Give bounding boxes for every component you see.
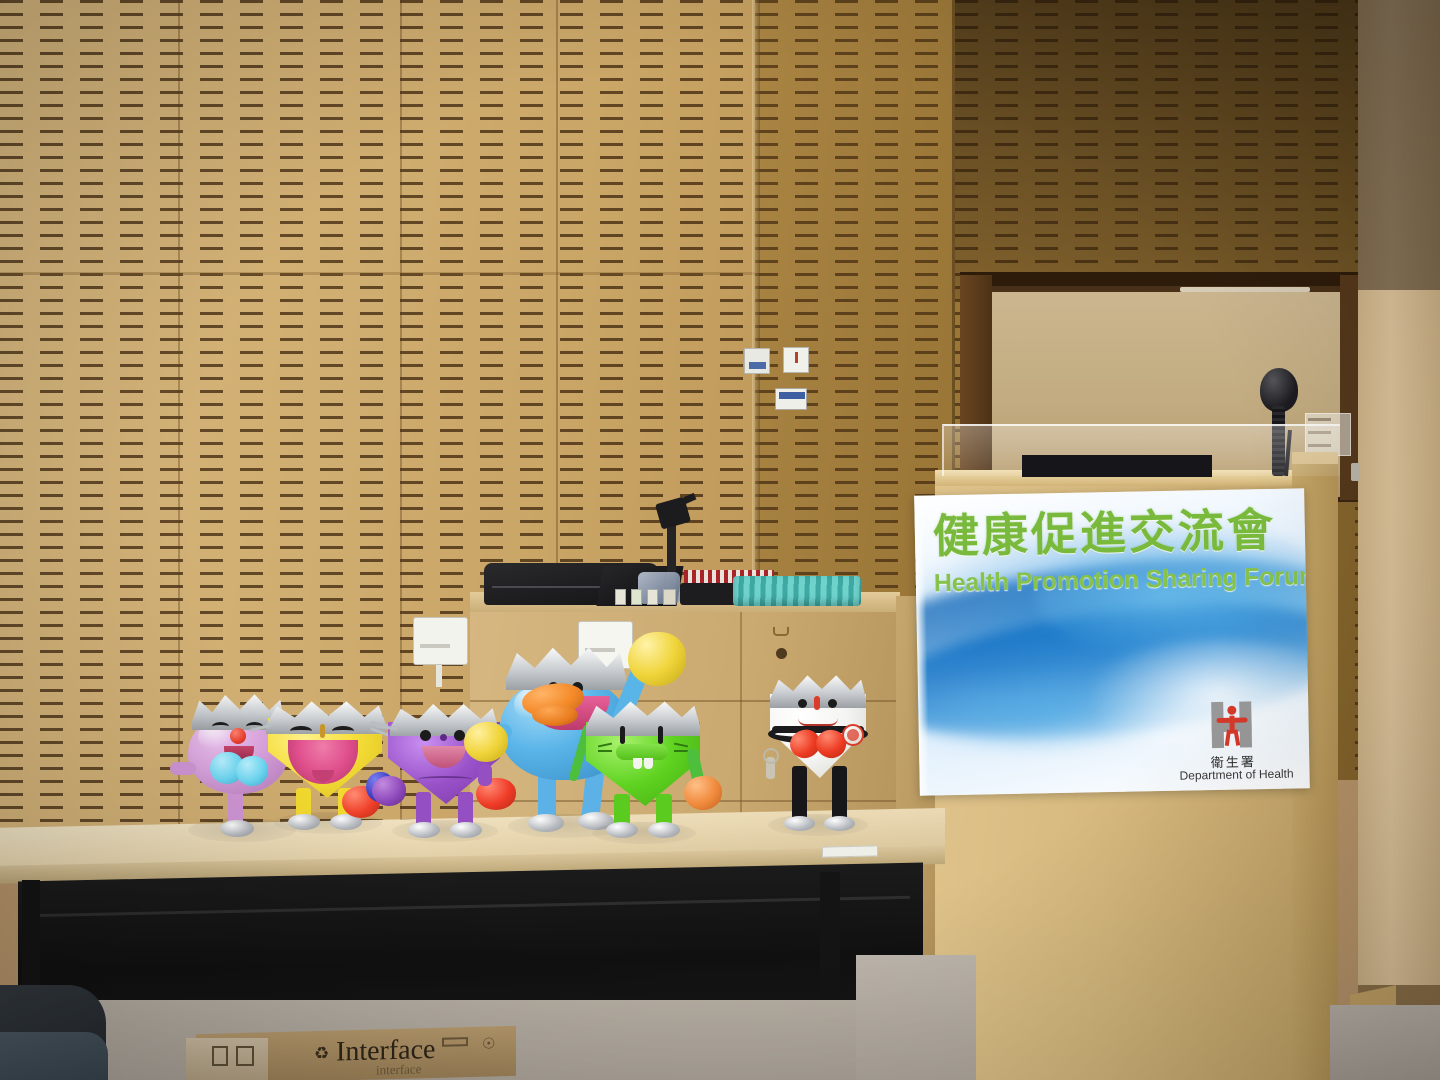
yellow-mascot[interactable]: [266, 700, 396, 840]
junction-box-conduit: [436, 665, 442, 687]
mascot-shoe: [784, 816, 815, 831]
recess-top-trim: [960, 272, 1360, 286]
mascot-beak-lower: [532, 704, 578, 726]
mascot-eye-left: [798, 699, 807, 708]
white-mascot[interactable]: [764, 674, 872, 840]
banner-title-zh: 健康促進交流會: [932, 507, 1289, 560]
mascot-crown: [266, 700, 386, 734]
mascot-crown: [586, 700, 700, 736]
drawer-lock[interactable]: [776, 648, 787, 659]
box-print-mark: [442, 1037, 468, 1047]
mascot-mitten-left: [464, 722, 508, 762]
wall-seam: [0, 272, 760, 275]
wall-control-panel-lower[interactable]: [775, 388, 807, 410]
drawer-handle[interactable]: [773, 627, 789, 636]
mascot-shoe: [606, 822, 638, 838]
logo-figure-left-leg: [1225, 730, 1231, 746]
lectern-dark-ledge: [1022, 455, 1212, 477]
small-bottles-row: [615, 589, 690, 605]
mascot-tooth-right: [644, 758, 653, 769]
cardboard-box-sublabel: interface: [376, 1062, 421, 1076]
mascot-nose: [320, 724, 325, 738]
mascot-mitten-raised: [628, 632, 686, 686]
health-promotion-sharing-forum-banner[interactable]: 健康促進交流會 Health Promotion Sharing Forum 衛…: [914, 488, 1310, 795]
teal-lanyard-stack[interactable]: [733, 576, 861, 606]
mascot-eye-right: [658, 726, 663, 744]
mascot-shoe: [408, 822, 440, 838]
lectern-screw: [1351, 463, 1360, 481]
asset-tag-sticker: [822, 845, 878, 857]
mascot-mouth-line: [418, 776, 472, 782]
mascot-nose: [814, 696, 820, 710]
recycle-icon: ♻: [314, 1045, 332, 1063]
mascot-mitten-right: [684, 776, 722, 810]
mascot-badge-inner: [847, 729, 859, 741]
umbrella-icon: [236, 1046, 254, 1066]
wall-far-right-shadow: [1358, 0, 1440, 290]
carpet-floor-right: [856, 955, 976, 1080]
fragile-icon: [212, 1046, 228, 1066]
conference-room-photo: 健康促進交流會 Health Promotion Sharing Forum 衛…: [0, 0, 1440, 1080]
mascot-eye-right: [828, 699, 837, 708]
mascot-mitten-right: [236, 756, 268, 786]
mascot-eye-left: [420, 730, 431, 741]
wall-control-panel-left[interactable]: [744, 348, 770, 374]
office-chair-seat[interactable]: [0, 1032, 108, 1080]
green-mascot[interactable]: [580, 700, 722, 848]
carpet-floor-far-right: [1330, 1005, 1440, 1080]
mascot-shoe: [824, 816, 855, 831]
mascot-eye-left: [620, 726, 625, 744]
mascot-leg: [792, 766, 807, 822]
mascot-whisker: [598, 750, 612, 752]
wall-seam: [178, 0, 180, 860]
mascot-shoe: [220, 820, 254, 837]
mascot-nose: [440, 734, 447, 741]
mascot-shoe: [648, 822, 680, 838]
mascot-mitten-left: [372, 776, 406, 806]
box-print-mark: ☉: [482, 1034, 498, 1050]
banner-org-en: Department of Health: [1177, 767, 1295, 783]
mascot-nose: [230, 728, 246, 744]
mascot-tooth-left: [633, 758, 642, 769]
bag-zipper: [492, 586, 612, 588]
wall-control-panel-right[interactable]: [783, 347, 809, 373]
mascot-eye-left: [212, 722, 229, 731]
mascot-eye-left: [290, 726, 312, 736]
mascot-shoe: [450, 822, 482, 838]
mascot-eye-right: [332, 726, 354, 736]
cardboard-box-secondary: [186, 1038, 268, 1080]
mascot-shoe: [528, 814, 564, 832]
junction-box-left: [413, 617, 468, 665]
mascot-arm: [170, 762, 196, 775]
mascot-shoe: [288, 814, 320, 830]
department-of-health-logo: [1210, 701, 1253, 748]
mascot-leg: [832, 766, 847, 822]
mascot-muzzle: [616, 744, 668, 760]
logo-figure-head: [1227, 706, 1236, 715]
recess-track-light: [1180, 287, 1310, 292]
